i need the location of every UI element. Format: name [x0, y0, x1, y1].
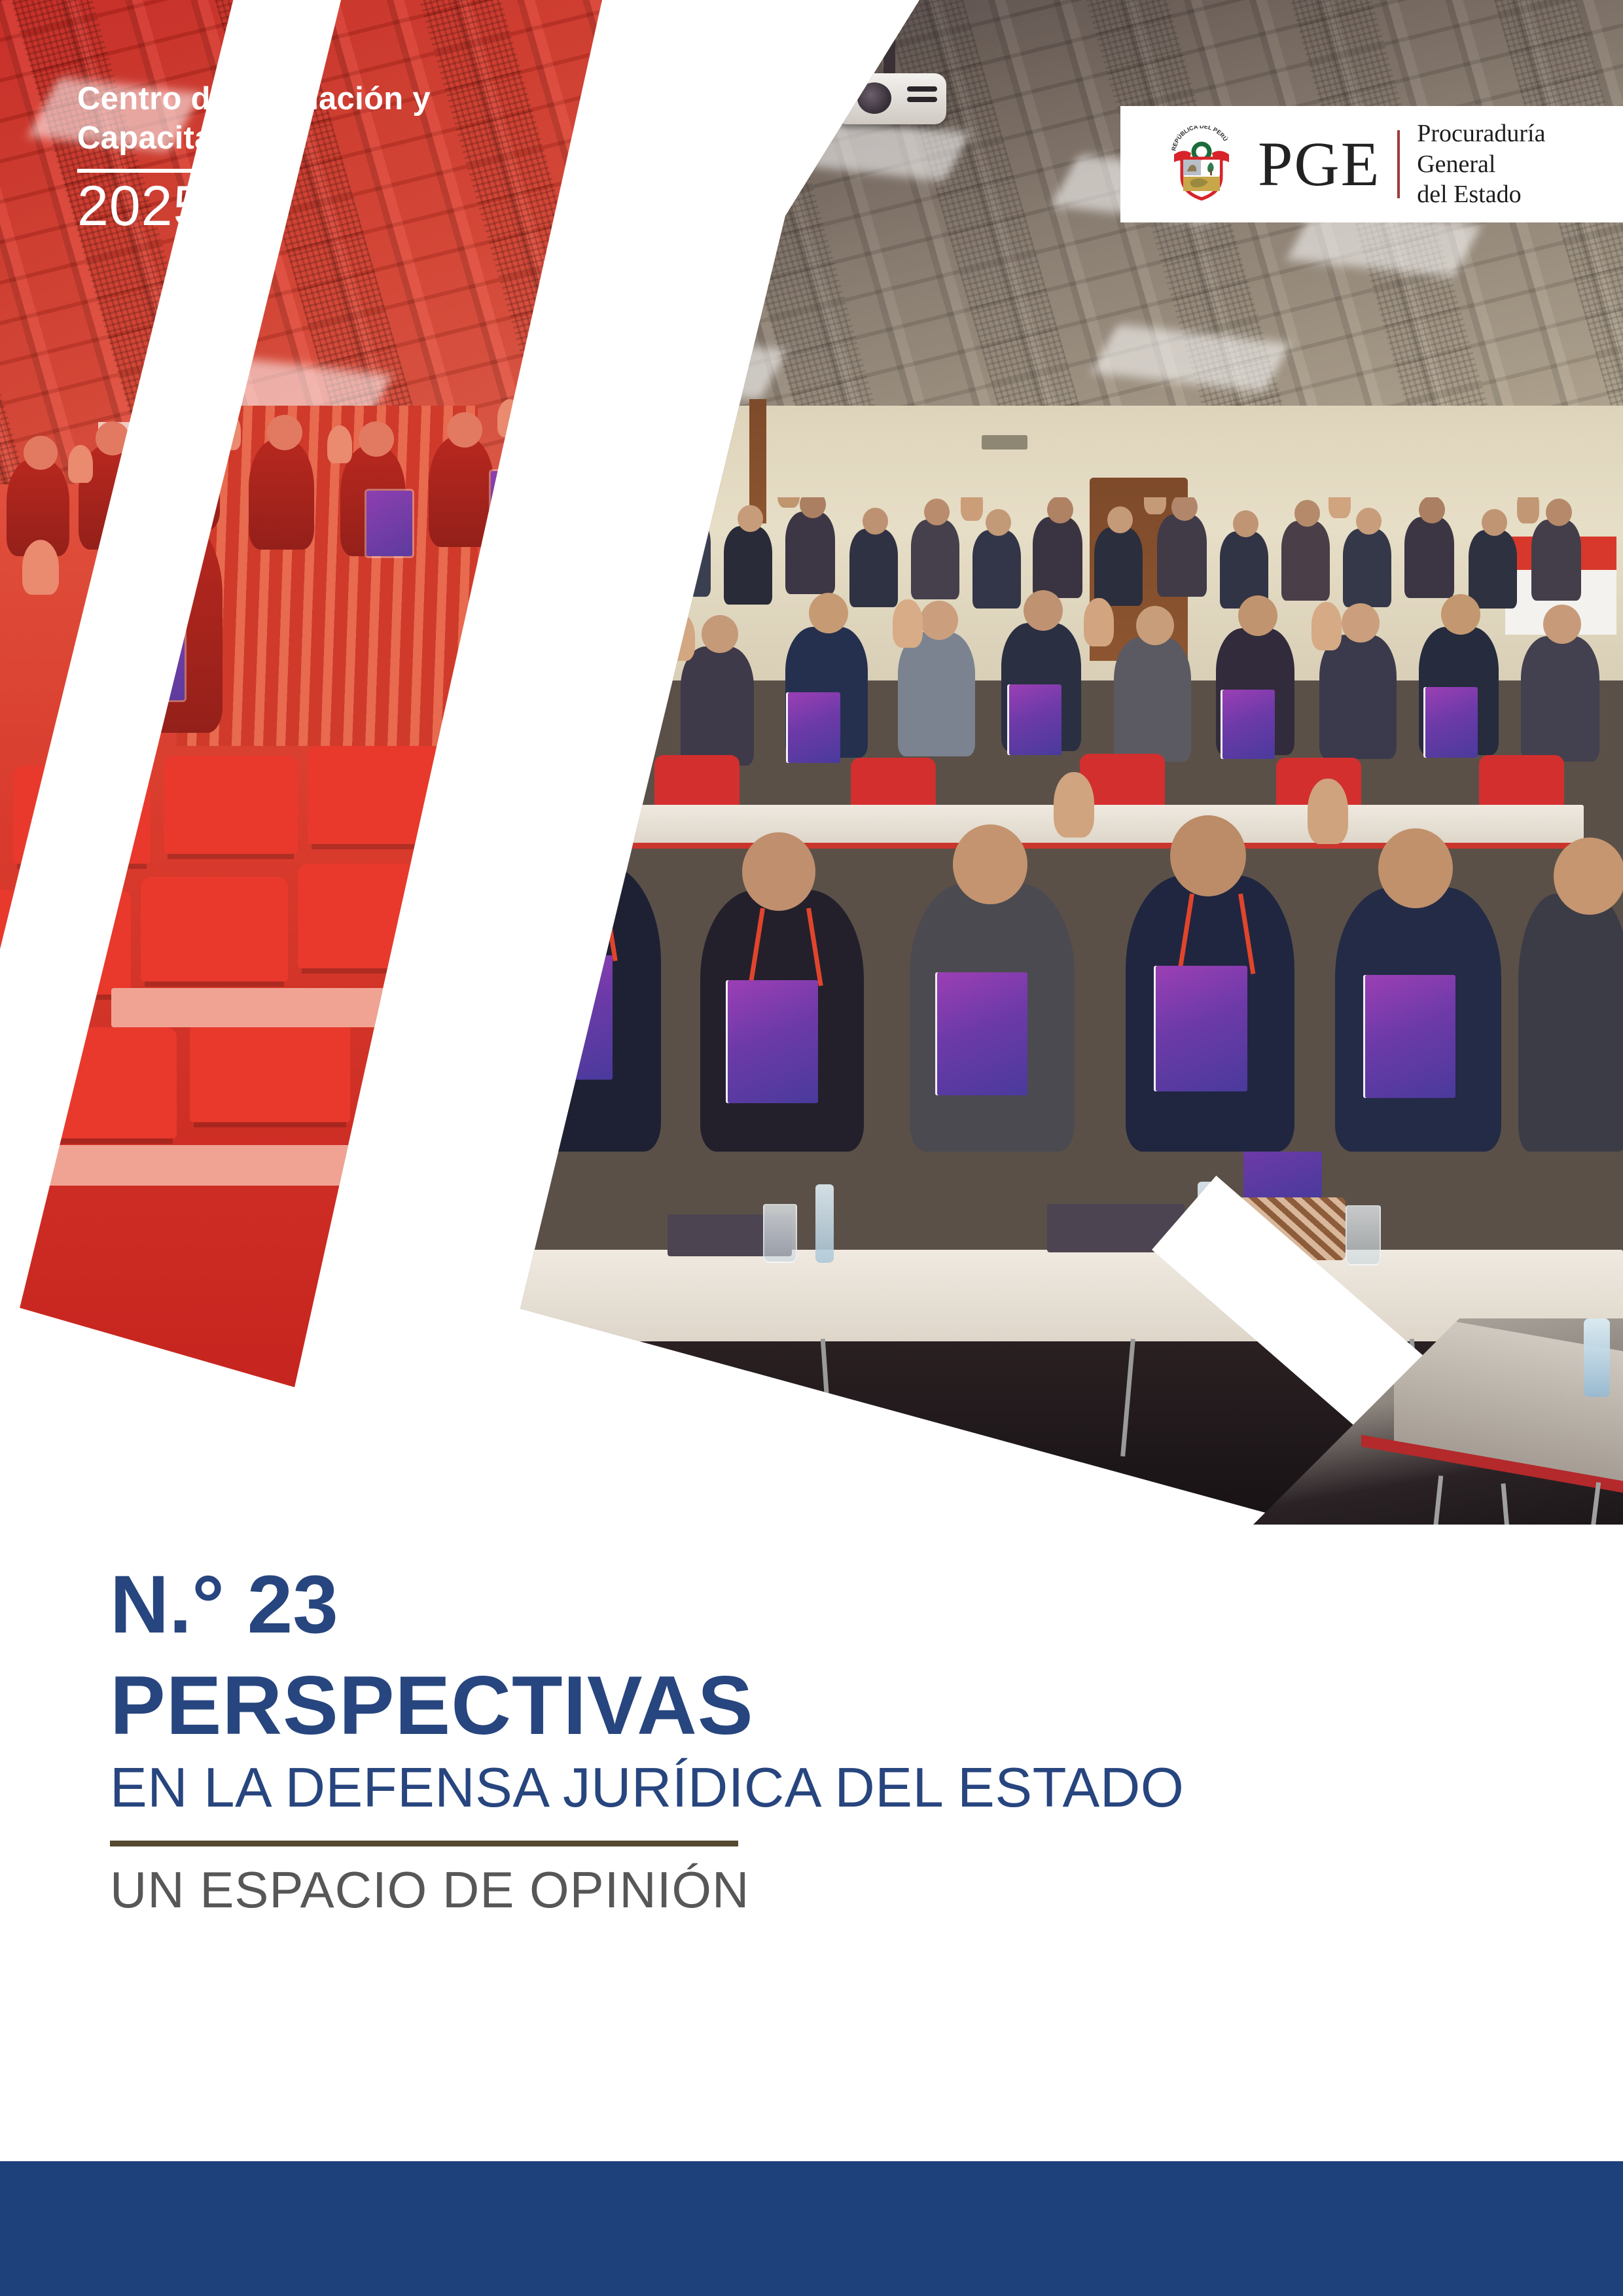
page-subtitle: EN LA DEFENSA JURÍDICA DEL ESTADO [110, 1759, 1419, 1817]
cover-page: Centro de Formación y Capacitación 2025 … [0, 0, 1623, 2296]
pge-acronym: PGE [1258, 136, 1380, 192]
program-year: 2025 [77, 177, 575, 236]
water-bottle [815, 1184, 834, 1263]
audience-crowd [393, 497, 1623, 1269]
svg-text:REPÚBLICA DEL PERÚ: REPÚBLICA DEL PERÚ [1170, 126, 1229, 151]
projector-icon [835, 73, 946, 124]
water-bottle [1584, 1318, 1610, 1397]
peru-coat-of-arms-icon: REPÚBLICA DEL PERÚ [1168, 126, 1236, 203]
page-kicker: UN ESPACIO DE OPINIÓN [110, 1863, 1419, 1917]
wall-vent [982, 435, 1027, 450]
publication-book [1243, 1152, 1322, 1197]
title-divider [110, 1841, 738, 1846]
front-desk [393, 1250, 1623, 1347]
drinking-glass [763, 1204, 797, 1263]
program-title-line2: Capacitación [77, 119, 575, 158]
pge-name-line1: Procuraduría General [1417, 118, 1623, 179]
header-rule [77, 169, 228, 173]
publication-book [728, 980, 818, 1103]
pge-name-line2: del Estado [1417, 179, 1623, 209]
publication-book [1156, 966, 1247, 1091]
pge-logo: REPÚBLICA DEL PERÚ [1120, 106, 1623, 222]
publication-book [937, 972, 1027, 1095]
projector-mount [883, 29, 895, 77]
logo-divider [1397, 130, 1400, 198]
bottom-color-bar [0, 2161, 1623, 2296]
cover-photo-collage: Centro de Formación y Capacitación 2025 … [0, 0, 1623, 1525]
issue-number: N.° 23 [110, 1564, 1419, 1646]
page-title: PERSPECTIVAS [110, 1664, 1419, 1747]
publication-book [1365, 975, 1455, 1098]
cover-title-block: N.° 23 PERSPECTIVAS EN LA DEFENSA JURÍDI… [110, 1564, 1419, 1917]
program-header: Centro de Formación y Capacitación 2025 [77, 80, 575, 236]
pge-full-name: Procuraduría General del Estado [1417, 118, 1623, 209]
program-title-line1: Centro de Formación y [77, 80, 575, 119]
publication-book [521, 955, 613, 1080]
main-auditorium-photo [393, 0, 1623, 1525]
drinking-glass [1346, 1205, 1381, 1265]
